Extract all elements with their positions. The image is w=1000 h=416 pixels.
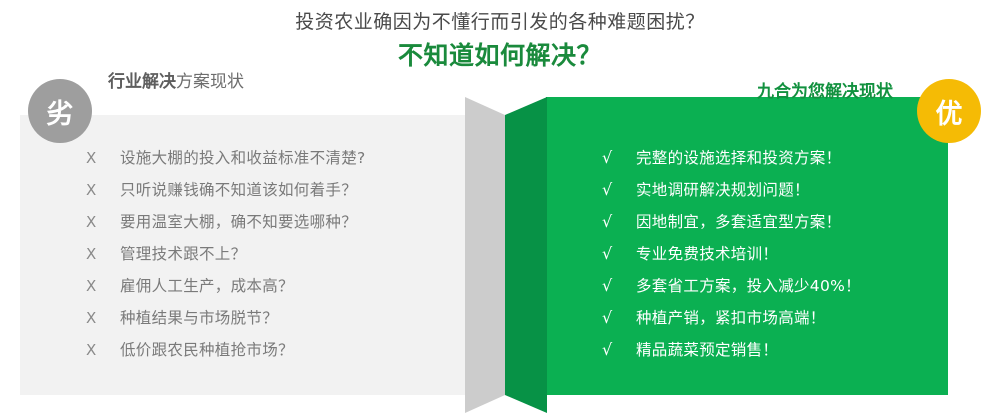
list-item-label: 低价跟农民种植抢市场？: [120, 334, 294, 366]
check-icon: √: [602, 302, 636, 334]
check-icon: √: [602, 334, 636, 366]
list-item: X 雇佣人工生产，成本高？: [86, 270, 456, 302]
cross-icon: X: [86, 334, 120, 366]
problems-panel-title: 行业解决方案现状: [108, 70, 244, 94]
list-item: √ 完整的设施选择和投资方案！: [602, 142, 942, 174]
cross-icon: X: [86, 302, 120, 334]
list-item: √ 因地制宜，多套适宜型方案！: [602, 206, 942, 238]
list-item-label: 设施大棚的投入和收益标准不清楚?: [120, 142, 366, 174]
list-item-label: 专业免费技术培训！: [636, 238, 778, 270]
list-item-label: 完整的设施选择和投资方案！: [636, 142, 841, 174]
list-item: X 只听说赚钱确不知道该如何着手？: [86, 174, 456, 206]
cross-icon: X: [86, 142, 120, 174]
list-item: X 低价跟农民种植抢市场？: [86, 334, 456, 366]
list-item-label: 种植结果与市场脱节？: [120, 302, 278, 334]
cross-icon: X: [86, 238, 120, 270]
list-item: X 设施大棚的投入和收益标准不清楚?: [86, 142, 456, 174]
badge-bad-icon: 劣: [28, 79, 92, 143]
list-item-label: 要用温室大棚，确不知要选哪种？: [120, 206, 357, 238]
list-item-label: 因地制宜，多套适宜型方案！: [636, 206, 841, 238]
list-item-label: 种植产销，紧扣市场高端！: [636, 302, 826, 334]
cross-icon: X: [86, 206, 120, 238]
list-item: X 要用温室大棚，确不知要选哪种？: [86, 206, 456, 238]
list-item-label: 雇佣人工生产，成本高？: [120, 270, 294, 302]
list-item-label: 多套省工方案，投入减少40%！: [636, 270, 861, 302]
list-item: √ 专业免费技术培训！: [602, 238, 942, 270]
headline-secondary: 不知道如何解决？: [0, 39, 1000, 73]
list-item: √ 实地调研解决规划问题！: [602, 174, 942, 206]
list-item: √ 多套省工方案，投入减少40%！: [602, 270, 942, 302]
list-item: √ 精品蔬菜预定销售！: [602, 334, 942, 366]
list-item-label: 只听说赚钱确不知道该如何着手？: [120, 174, 357, 206]
list-item-label: 管理技术跟不上？: [120, 238, 246, 270]
ribbon-fold-green: [505, 97, 547, 413]
check-icon: √: [602, 206, 636, 238]
comparison-infographic: 投资农业确因为不懂行而引发的各种难题困扰？ 不知道如何解决？ 行业解决方案现状 …: [0, 0, 1000, 416]
check-icon: √: [602, 142, 636, 174]
cross-icon: X: [86, 174, 120, 206]
badge-good-icon: 优: [917, 79, 981, 143]
headline-primary: 投资农业确因为不懂行而引发的各种难题困扰？: [0, 8, 1000, 36]
list-item-label: 精品蔬菜预定销售！: [636, 334, 778, 366]
check-icon: √: [602, 270, 636, 302]
problems-title-strong: 行业解决: [108, 72, 176, 92]
ribbon-fold-gray: [465, 97, 505, 413]
list-item: √ 种植产销，紧扣市场高端！: [602, 302, 942, 334]
solutions-list: √ 完整的设施选择和投资方案！ √ 实地调研解决规划问题！ √ 因地制宜，多套适…: [602, 142, 942, 366]
problems-title-rest: 方案现状: [176, 72, 244, 92]
list-item-label: 实地调研解决规划问题！: [636, 174, 810, 206]
list-item: X 种植结果与市场脱节？: [86, 302, 456, 334]
headline-block: 投资农业确因为不懂行而引发的各种难题困扰？ 不知道如何解决？: [0, 8, 1000, 73]
cross-icon: X: [86, 270, 120, 302]
solutions-panel-title: 九合为您解决现状: [757, 80, 893, 104]
check-icon: √: [602, 238, 636, 270]
problems-list: X 设施大棚的投入和收益标准不清楚? X 只听说赚钱确不知道该如何着手？ X 要…: [86, 142, 456, 366]
check-icon: √: [602, 174, 636, 206]
list-item: X 管理技术跟不上？: [86, 238, 456, 270]
